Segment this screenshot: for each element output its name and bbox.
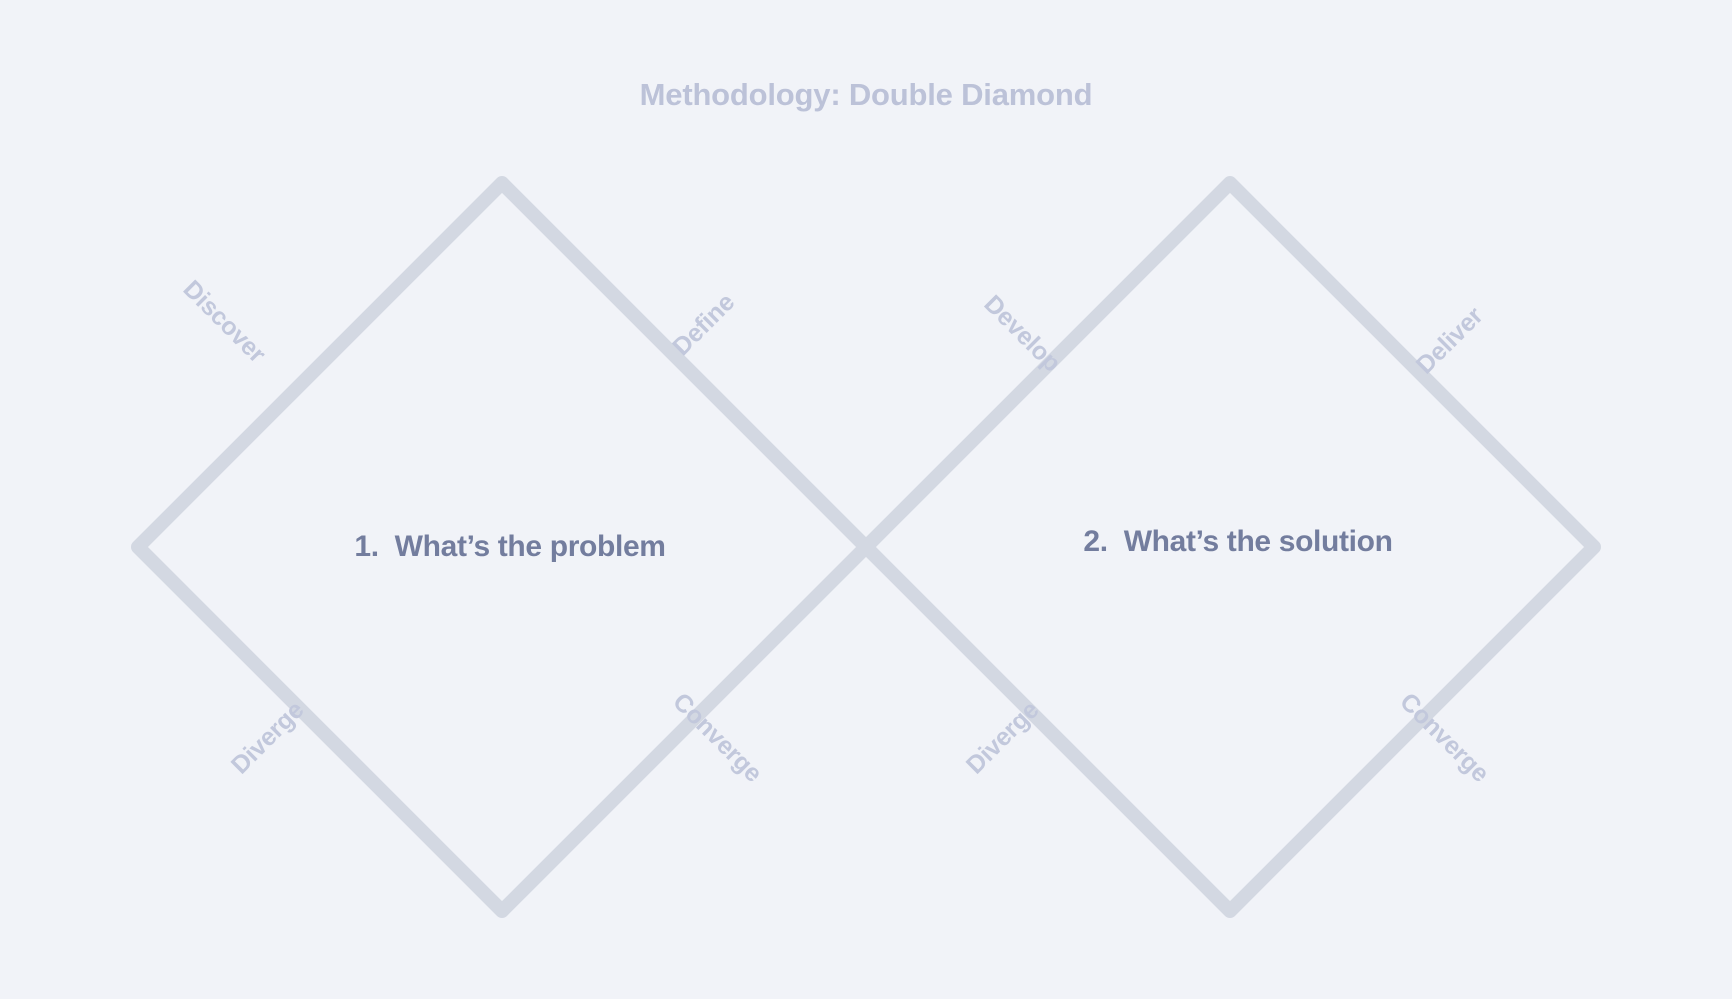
double-diamond-slide: Methodology: Double Diamond 1. What’s th… [0,0,1732,999]
diamond-heading-solution: 2. What’s the solution [1083,525,1392,559]
double-diamond-graphic [0,0,1732,999]
diamond-heading-problem: 1. What’s the problem [354,530,665,564]
